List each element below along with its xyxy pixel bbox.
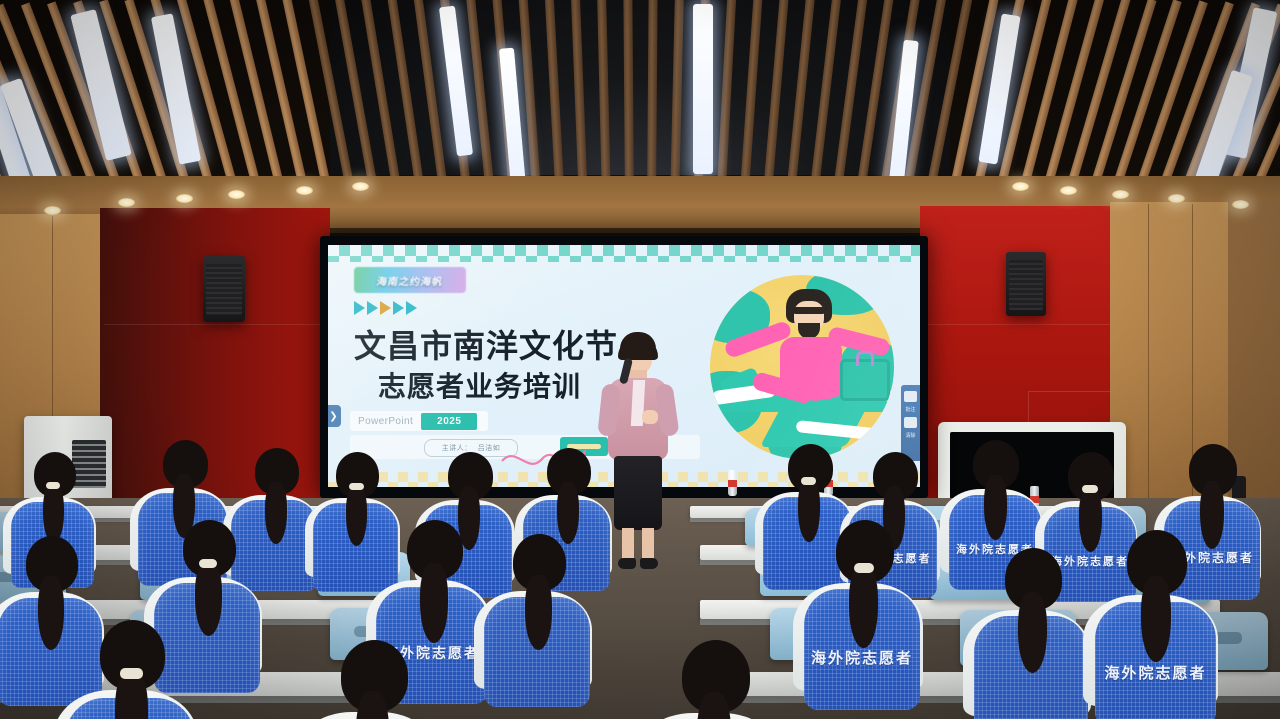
presenter-skirt xyxy=(614,456,662,530)
hair-tie[interactable] xyxy=(1082,485,1098,493)
audience-member[interactable] xyxy=(480,534,602,719)
erase-label: 清除 xyxy=(905,432,915,439)
screen-toolbar[interactable]: 批注 清除 xyxy=(901,385,920,461)
pen-icon[interactable] xyxy=(904,391,917,402)
recessed-downlight xyxy=(118,198,135,207)
chevron-right-icon xyxy=(380,301,391,315)
ponytail[interactable] xyxy=(1141,576,1171,662)
presenter-leg-right xyxy=(642,528,654,562)
bottle-label[interactable] xyxy=(728,480,737,487)
recessed-downlight xyxy=(1060,186,1077,195)
pen-label: 批注 xyxy=(905,406,915,413)
ponytail[interactable] xyxy=(43,484,64,543)
hair-tie[interactable] xyxy=(801,477,816,485)
audience-member[interactable] xyxy=(640,640,796,719)
ceiling-speaker-right xyxy=(1006,252,1046,316)
event-logo-text: 海南之约海帆 xyxy=(376,273,445,288)
vest-text[interactable]: 海外院志愿者 xyxy=(1095,662,1216,683)
chevron-right-icon xyxy=(367,301,378,315)
ponytail[interactable] xyxy=(1018,592,1047,673)
eraser-icon[interactable] xyxy=(904,417,917,428)
accent-wall-seam xyxy=(924,324,1116,325)
hair-tie[interactable] xyxy=(854,563,874,573)
audience-member[interactable]: 海外院志愿者 xyxy=(800,520,934,719)
recessed-downlight xyxy=(1012,182,1029,191)
presenter-hand xyxy=(642,410,658,424)
presenter-leg-left xyxy=(622,528,634,562)
water-bottle[interactable] xyxy=(728,470,737,496)
recessed-downlight xyxy=(44,206,61,215)
recessed-downlight xyxy=(1168,194,1185,203)
screen-left-tab-button[interactable]: ❯ xyxy=(328,405,341,427)
hair-tie[interactable] xyxy=(46,482,60,489)
slide-title-line1: 文昌市南洋文化节 xyxy=(354,321,618,367)
presenter-shoe-right xyxy=(640,558,658,569)
ceiling-speaker-left xyxy=(203,256,245,322)
photo-scene: 海南之约海帆 文昌市南洋文化节 志愿者业务培训 PowerPoint 2025 … xyxy=(0,0,1280,719)
software-year-bar: PowerPoint 2025 xyxy=(350,411,488,431)
audience-member[interactable]: 海外院志愿者 xyxy=(1090,530,1229,719)
ponytail[interactable] xyxy=(346,485,367,546)
figure-glasses xyxy=(792,307,826,314)
slide-top-checker-border xyxy=(328,245,920,262)
ponytail[interactable] xyxy=(849,565,878,648)
ceiling-slat xyxy=(623,0,634,190)
led-tube-light xyxy=(693,4,713,174)
suitcase-handle xyxy=(856,351,874,366)
wall-panel-seam xyxy=(1148,204,1149,512)
ponytail[interactable] xyxy=(984,475,1007,540)
event-logo: 海南之约海帆 xyxy=(354,267,466,293)
ceiling xyxy=(0,0,1280,190)
chevron-decoration xyxy=(354,301,417,315)
chevron-right-icon xyxy=(393,301,404,315)
hair-tie[interactable] xyxy=(120,668,143,679)
ponytail[interactable] xyxy=(420,563,448,643)
hair-tie[interactable] xyxy=(349,483,364,490)
recessed-downlight xyxy=(296,186,313,195)
software-label: PowerPoint xyxy=(350,416,421,427)
recessed-downlight xyxy=(352,182,369,191)
slide-title-line2: 志愿者业务培训 xyxy=(378,365,581,405)
audience-member[interactable] xyxy=(300,640,454,719)
vest-text[interactable]: 海外院志愿者 xyxy=(804,647,920,668)
ponytail[interactable] xyxy=(525,575,552,650)
chevron-right-icon xyxy=(354,301,365,315)
accent-wall-seam xyxy=(104,324,326,325)
recessed-downlight xyxy=(228,190,245,199)
chevron-right-icon xyxy=(406,301,417,315)
recessed-downlight xyxy=(176,194,193,203)
recessed-downlight xyxy=(1112,190,1129,199)
traveler-globe-illustration xyxy=(710,275,894,459)
hair-tie[interactable] xyxy=(199,559,217,568)
audience-member[interactable] xyxy=(60,620,210,719)
year-badge: 2025 xyxy=(421,413,477,430)
recessed-downlight xyxy=(1232,200,1249,209)
